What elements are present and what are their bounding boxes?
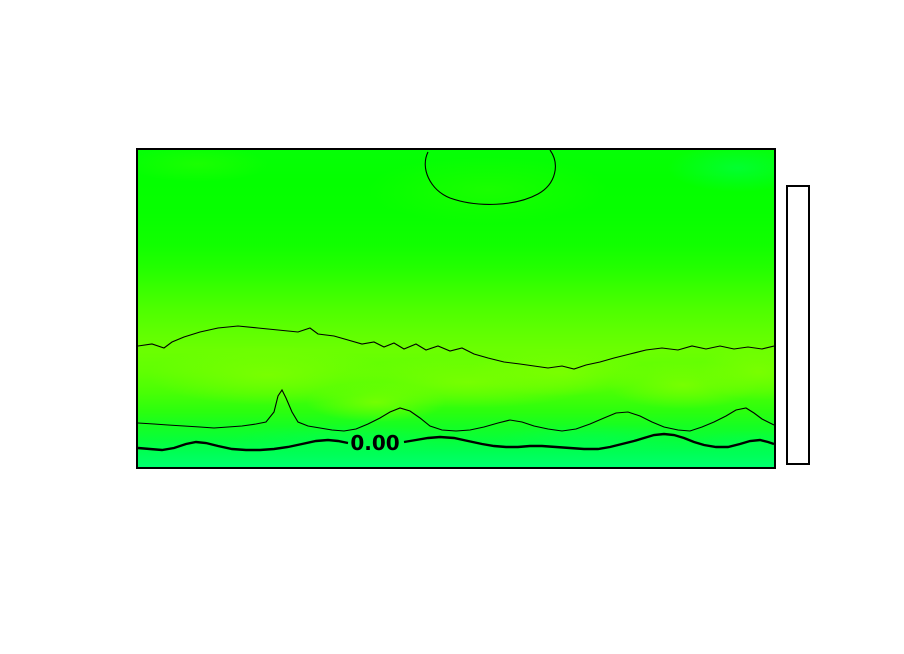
colorbar-labels xyxy=(0,0,904,654)
